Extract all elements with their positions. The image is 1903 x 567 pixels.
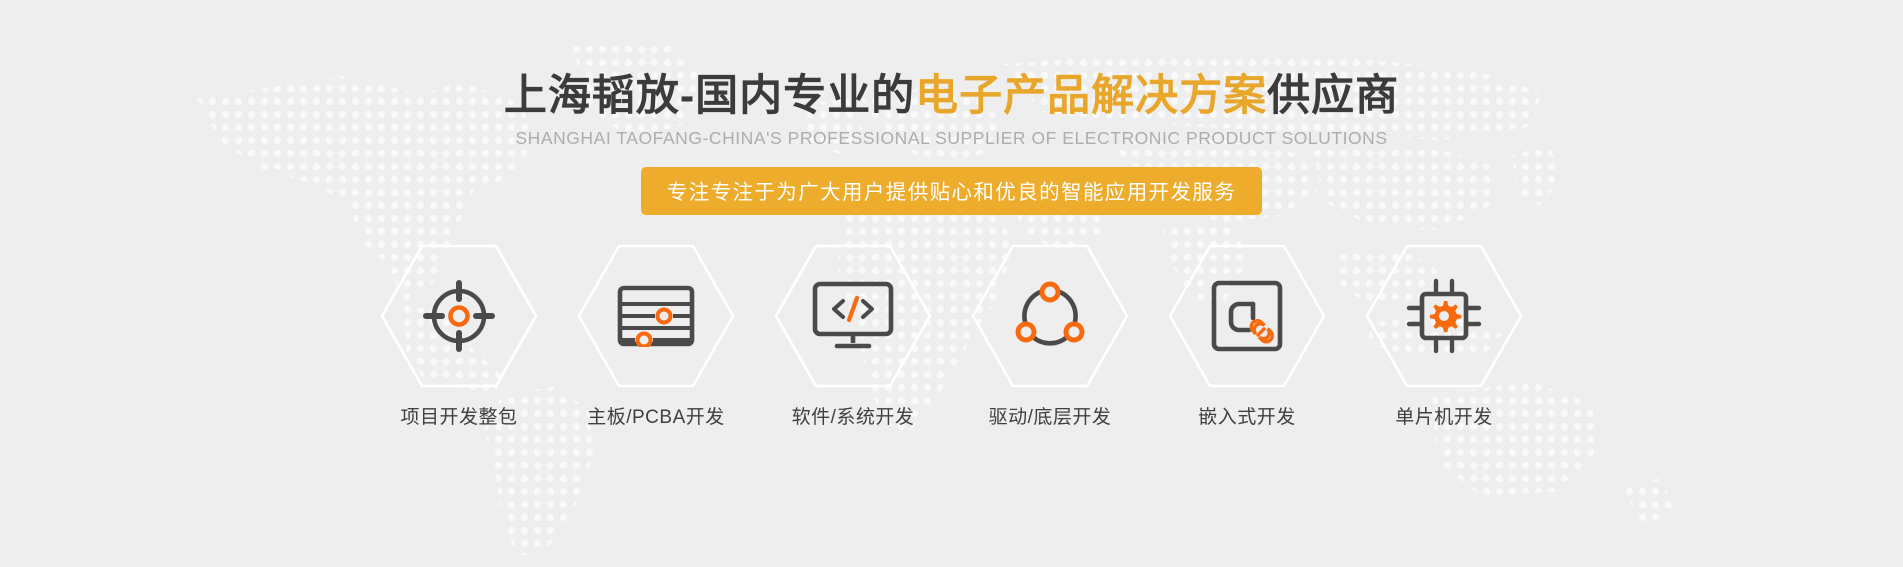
hex-badge: [1167, 243, 1327, 389]
service-label: 主板/PCBA开发: [587, 402, 725, 429]
circuit-board-icon: [617, 285, 695, 347]
hex-badge: [1364, 243, 1524, 389]
tagline-badge: 专注专注于为广大用户提供贴心和优良的智能应用开发服务: [641, 167, 1262, 215]
network-nodes-icon: [1013, 279, 1087, 353]
target-crosshair-icon: [422, 279, 496, 353]
service-label: 软件/系统开发: [792, 402, 915, 429]
services-row: 项目开发整包 主板/PCBA开发: [379, 243, 1524, 429]
page-subtitle: SHANGHAI TAOFANG-CHINA'S PROFESSIONAL SU…: [515, 128, 1387, 149]
hex-badge: [773, 243, 933, 389]
service-item-embedded[interactable]: 嵌入式开发: [1167, 243, 1327, 429]
service-label: 嵌入式开发: [1198, 402, 1296, 429]
chip-link-icon: [1211, 280, 1283, 352]
microcontroller-gear-icon: [1405, 277, 1483, 355]
service-item-driver-lowlevel[interactable]: 驱动/底层开发: [970, 243, 1130, 429]
service-label: 驱动/底层开发: [989, 402, 1112, 429]
service-label: 单片机开发: [1395, 402, 1493, 429]
hex-badge: [970, 243, 1130, 389]
banner-content: 上海韬放-国内专业的电子产品解决方案供应商 SHANGHAI TAOFANG-C…: [0, 0, 1903, 567]
service-item-project-package[interactable]: 项目开发整包: [379, 243, 539, 429]
service-label: 项目开发整包: [400, 402, 517, 429]
hex-badge: [379, 243, 539, 389]
service-item-software-system[interactable]: 软件/系统开发: [773, 243, 933, 429]
headline-part3: 供应商: [1267, 72, 1399, 120]
service-item-mcu[interactable]: 单片机开发: [1364, 243, 1524, 429]
page-title: 上海韬放-国内专业的电子产品解决方案供应商: [504, 72, 1399, 121]
headline-highlight: 电子产品解决方案: [915, 72, 1267, 120]
hex-badge: [576, 243, 736, 389]
headline-part1: 上海韬放-国内专业的: [504, 72, 915, 120]
monitor-code-icon: [812, 281, 894, 351]
service-item-pcba[interactable]: 主板/PCBA开发: [576, 243, 736, 429]
